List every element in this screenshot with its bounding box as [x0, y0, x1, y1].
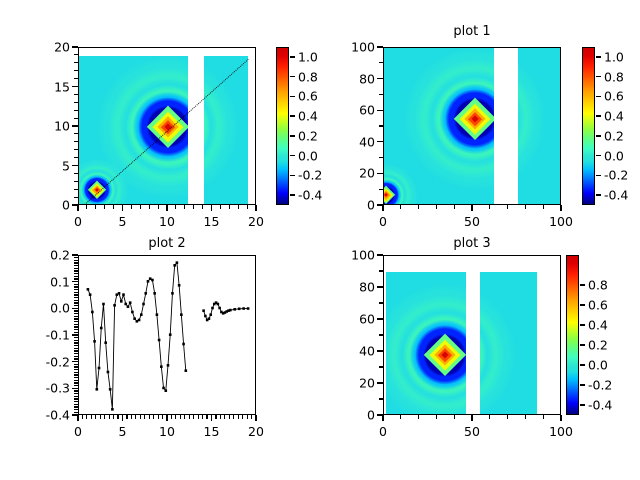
plot-3-colorbar-tick-label: 0.2 [588, 338, 608, 353]
plot-3-ytick-label: 60 [331, 312, 375, 327]
plot-3-xtick-minor [400, 415, 401, 419]
plot-3-colorbar-tick-label: 0.6 [588, 298, 608, 313]
plot-3-ytick-minor [379, 398, 383, 399]
plot-3-xtick-minor [525, 415, 526, 419]
plot-3-xtick-minor [543, 415, 544, 419]
plot-3-xtick-label: 50 [464, 424, 480, 439]
plot-3-ytick [377, 254, 383, 255]
plot-3-ytick-minor [379, 334, 383, 335]
plot-3-ytick-label: 40 [331, 344, 375, 359]
plot-3-colorbar-tick-label: -0.4 [588, 398, 612, 413]
plot-3-colorbar-tick [580, 404, 585, 405]
plot-3-image-block [480, 272, 537, 415]
plot-3-xtick-minor [507, 415, 508, 419]
plot-3-title: plot 3 [383, 236, 561, 251]
plot-3-xtick [560, 415, 561, 421]
plot-3-xtick-minor [454, 415, 455, 419]
plot-3-colorbar-tick-label: 0.4 [588, 318, 608, 333]
plot-3-xtick [471, 415, 472, 421]
plot-3-xtick-minor [418, 415, 419, 419]
plot-3-xtick-label: 0 [379, 424, 387, 439]
plot-3-ytick-minor [379, 366, 383, 367]
plot-3-colorbar-tick [580, 324, 585, 325]
plot-3-colorbar-tick [580, 284, 585, 285]
plot-3-colorbar-tick [580, 344, 585, 345]
plot-3-xtick-minor [436, 415, 437, 419]
plot-3-panel: plot 30204060801000501000.80.60.40.20.0-… [0, 0, 640, 480]
plot-3-colorbar-tick [580, 364, 585, 365]
plot-3-ytick-minor [379, 270, 383, 271]
plot-3-ytick [377, 350, 383, 351]
plot-3-colorbar-tick [580, 384, 585, 385]
plot-3-colorbar-tick [580, 304, 585, 305]
plot-3-image-block [386, 272, 466, 415]
plot-3-ytick [377, 286, 383, 287]
plot-3-colorbar-tick-label: -0.2 [588, 378, 612, 393]
plot-3-xtick-label: 100 [549, 424, 573, 439]
plot-3-colorbar-tick-label: 0.8 [588, 278, 608, 293]
plot-3-axes-frame [383, 255, 561, 415]
plot-3-ytick-label: 80 [331, 280, 375, 295]
plot-3-xtick [382, 415, 383, 421]
plot-3-ytick [377, 318, 383, 319]
plot-3-xtick-minor [489, 415, 490, 419]
plot-3-ytick [377, 382, 383, 383]
plot-3-ytick-label: 20 [331, 376, 375, 391]
plot-3-colorbar [566, 255, 579, 415]
plot-3-colorbar-tick-label: 0.0 [588, 358, 608, 373]
figure-canvas: 05101520051015201.00.80.60.40.20.0-0.2-0… [0, 0, 640, 480]
plot-3-ytick-label: 100 [331, 248, 375, 263]
plot-3-ytick-minor [379, 302, 383, 303]
plot-3-ytick-label: 0 [331, 408, 375, 423]
